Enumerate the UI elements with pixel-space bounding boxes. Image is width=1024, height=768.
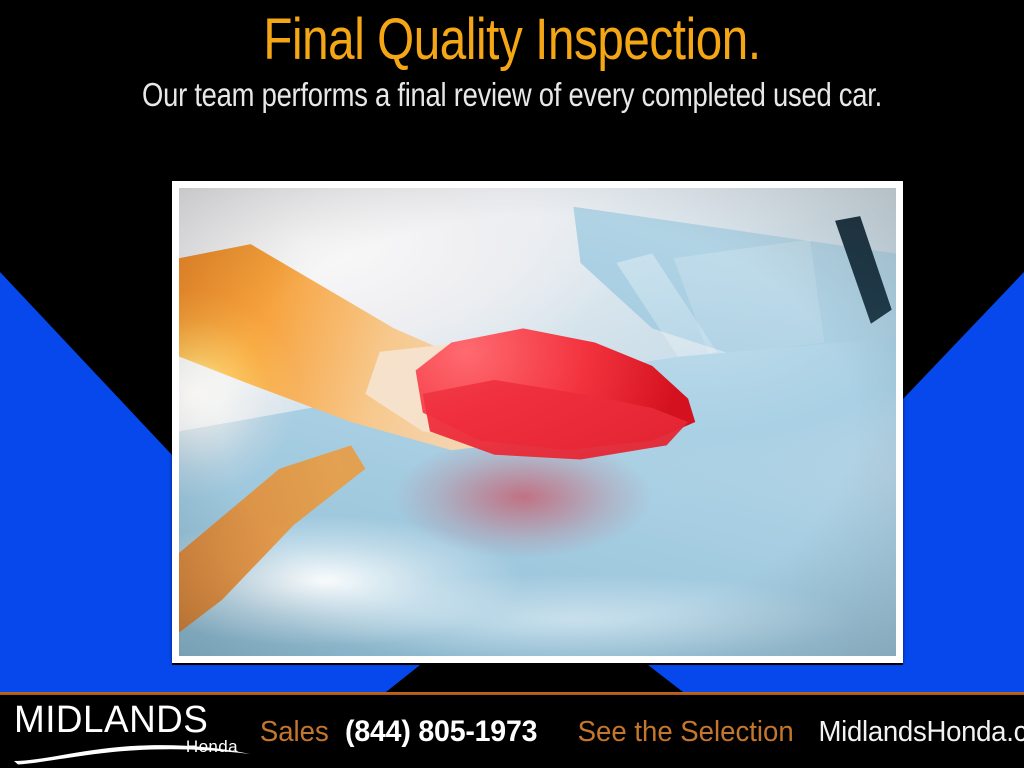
- hero-photo: [179, 188, 896, 656]
- cta-label[interactable]: See the Selection: [578, 715, 794, 749]
- photo-vignette-layer: [179, 188, 896, 656]
- contact-info: Sales (844) 805-1973 See the Selection M…: [258, 715, 1024, 757]
- dealer-logo[interactable]: MIDLANDS Honda: [14, 701, 254, 763]
- phone-number[interactable]: (844) 805-1973: [345, 715, 537, 749]
- website-url[interactable]: MidlandsHonda.com: [819, 715, 1024, 749]
- footer-bar: MIDLANDS Honda Sales (844) 805-1973 See …: [0, 695, 1024, 768]
- header-block: Final Quality Inspection. Our team perfo…: [0, 0, 1024, 140]
- swoosh-icon: [12, 741, 262, 765]
- advertisement-slide: Final Quality Inspection. Our team perfo…: [0, 0, 1024, 768]
- hero-photo-frame: [172, 181, 903, 663]
- page-title: Final Quality Inspection.: [92, 0, 932, 71]
- sales-label: Sales: [260, 715, 329, 749]
- logo-brand-text: MIDLANDS: [14, 701, 247, 739]
- page-subtitle: Our team performs a final review of ever…: [87, 77, 937, 113]
